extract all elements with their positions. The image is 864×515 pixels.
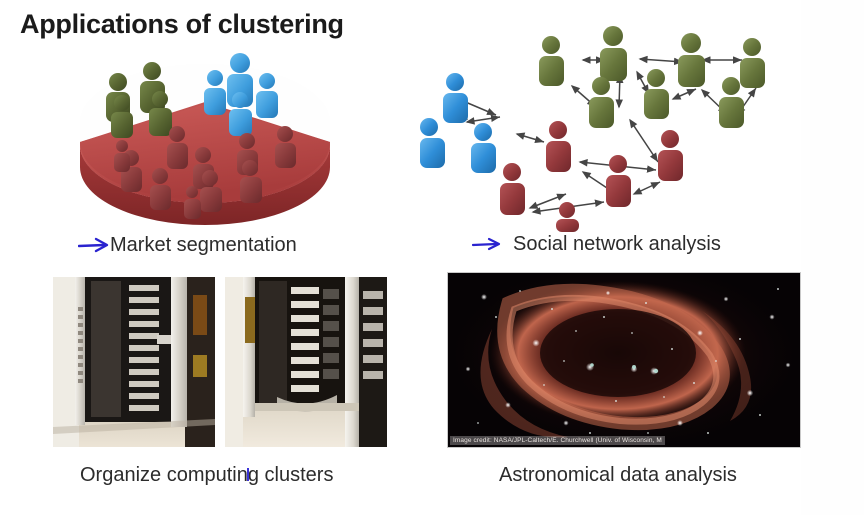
caption-organize-computing-clusters: Organize computing clusters: [80, 464, 333, 487]
page-title: Applications of clustering: [20, 9, 344, 40]
server-rack-photographs: [53, 277, 387, 447]
caption-market-segmentation: Market segmentation: [110, 234, 297, 257]
image-credit-caption: Image credit: NASA/JPL-Caltech/E. Church…: [450, 436, 665, 445]
caption-social-network-analysis: Social network analysis: [513, 233, 721, 256]
market-segmentation-graphic: [60, 42, 350, 227]
nebula-photograph: Image credit: NASA/JPL-Caltech/E. Church…: [447, 272, 801, 448]
social-network-graphic: [420, 22, 850, 232]
slide-canvas: Applications of clustering: [0, 0, 864, 515]
right-arrow-icon: [472, 235, 506, 253]
rack-photo-right: [225, 277, 387, 447]
caption-astronomical-data-analysis: Astronomical data analysis: [499, 464, 737, 487]
text-cursor: [247, 468, 249, 481]
right-arrow-icon: [78, 236, 112, 254]
rack-photo-left: [53, 277, 215, 447]
